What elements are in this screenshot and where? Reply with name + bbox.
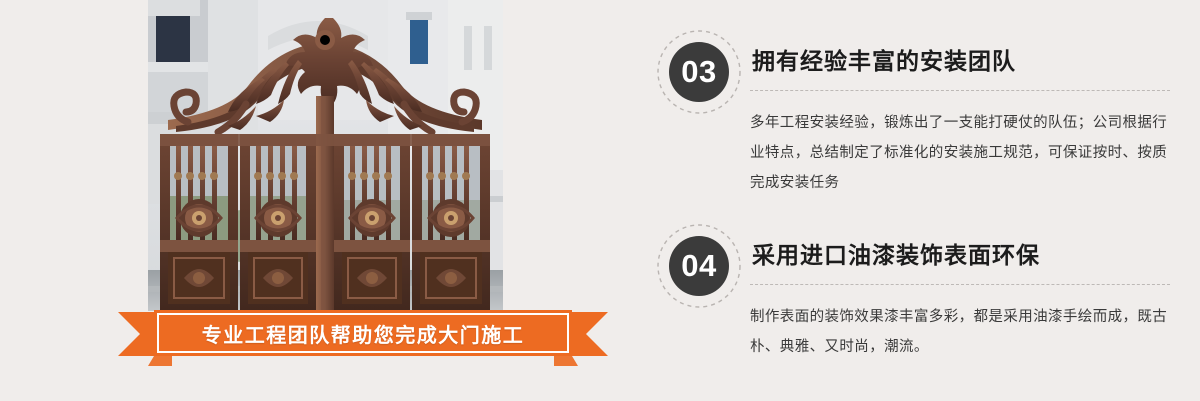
feature-03-divider bbox=[750, 90, 1170, 91]
badge-03: 03 bbox=[656, 28, 746, 118]
ribbon-shape bbox=[118, 310, 608, 368]
ribbon-band bbox=[154, 310, 572, 356]
features-panel: 03 拥有经验丰富的安装团队 多年工程安装经验，锻炼出了一支能打硬仗的队伍；公司… bbox=[640, 0, 1200, 401]
feature-04-body: 制作表面的装饰效果漆丰富多彩，都是采用油漆手绘而成，既古朴、典雅、又时尚，潮流。 bbox=[750, 302, 1182, 362]
badge-disc bbox=[669, 42, 729, 102]
left-image-panel: 专业工程团队帮助您完成大门施工 bbox=[0, 0, 640, 401]
ribbon-banner: 专业工程团队帮助您完成大门施工 bbox=[118, 310, 608, 368]
feature-03-heading: 拥有经验丰富的安装团队 bbox=[752, 42, 1016, 76]
badge-03-shape bbox=[656, 28, 746, 118]
badge-04-shape bbox=[656, 222, 746, 312]
gate-photo-artwork bbox=[148, 0, 503, 311]
badge-04: 04 bbox=[656, 222, 746, 312]
feature-04-divider bbox=[750, 284, 1170, 285]
badge-disc bbox=[669, 236, 729, 296]
gate-photo bbox=[148, 0, 503, 311]
feature-04-heading: 采用进口油漆装饰表面环保 bbox=[752, 236, 1040, 270]
feature-03-body: 多年工程安装经验，锻炼出了一支能打硬仗的队伍；公司根据行业特点，总结制定了标准化… bbox=[750, 108, 1182, 198]
